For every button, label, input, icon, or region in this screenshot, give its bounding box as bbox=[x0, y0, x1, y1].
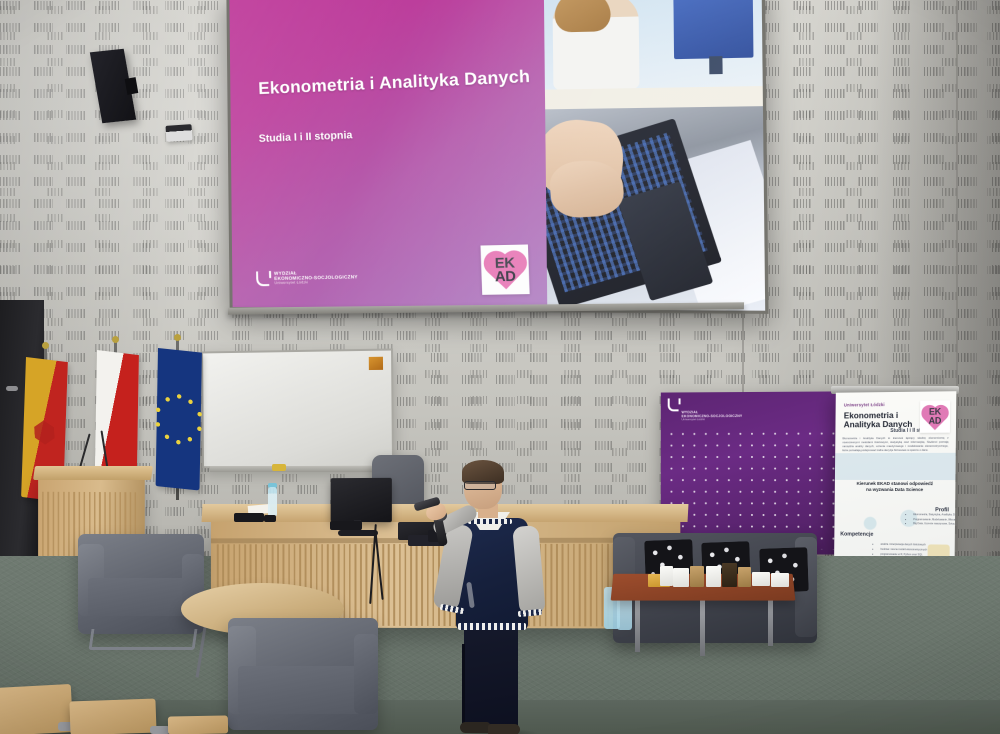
monitor-base bbox=[338, 530, 378, 536]
rollup-badge-text: EK AD bbox=[929, 408, 942, 425]
presenter-shoe bbox=[460, 722, 490, 733]
armchair bbox=[228, 618, 378, 730]
ul-monogram-icon bbox=[668, 398, 679, 411]
catering-box bbox=[673, 568, 689, 587]
faculty-logo: WYDZIAŁ EKONOMICZNO-SOCJOLOGICZNY Uniwer… bbox=[256, 269, 358, 286]
jacket-collar-stripe bbox=[468, 519, 512, 524]
armchair-seat bbox=[88, 578, 194, 616]
auditorium-seat-back[interactable] bbox=[69, 699, 156, 734]
armchair bbox=[78, 534, 204, 634]
list-item: Big Data, Uczenie maszynowe, Sztuczna in… bbox=[913, 522, 956, 527]
ekad-badge-bottom: AD bbox=[495, 269, 516, 283]
auditorium-seat-arm bbox=[150, 726, 170, 734]
presentation-slide: Ekonometria i Analityka Danych Studia I … bbox=[229, 0, 765, 311]
ekad-badge-text: EK AD bbox=[495, 256, 517, 284]
pegboard-logo: WYDZIAŁ EKONOMICZNO-SOCJOLOGICZNY Uniwer… bbox=[668, 398, 743, 422]
photo-upper-scene bbox=[544, 0, 763, 109]
desk-monitor bbox=[331, 478, 392, 522]
presenter-shoe bbox=[488, 724, 520, 734]
whiteboard-marker-icon[interactable] bbox=[272, 464, 286, 471]
catering-box bbox=[690, 566, 704, 587]
presenter bbox=[438, 460, 542, 734]
jacket-hem-stripe bbox=[458, 623, 526, 630]
rollup-ekad-badge: EK AD bbox=[920, 400, 950, 432]
photo-keyboard-scene bbox=[545, 106, 765, 311]
desk-equipment bbox=[234, 513, 264, 522]
purple-pegboard-panel: WYDZIAŁ EKONOMICZNO-SOCJOLOGICZNY Uniwer… bbox=[661, 391, 839, 554]
rollup-claim: Kierunek EKAD stanowi odpowiedź na wyzwa… bbox=[856, 481, 933, 493]
whiteboard-sticker-icon bbox=[369, 357, 383, 370]
faculty-logo-line2: EKONOMICZNO-SOCJOLOGICZNY bbox=[275, 275, 359, 282]
water-bottle-icon bbox=[268, 487, 277, 517]
ul-monogram-icon bbox=[256, 271, 270, 286]
photo-monitor-stand bbox=[709, 56, 722, 74]
faculty-logo-line3: Uniwersytet Łódzki bbox=[275, 280, 359, 286]
whiteboard bbox=[201, 348, 394, 468]
lodz-emblem-icon bbox=[34, 420, 56, 445]
eu-stars-icon bbox=[152, 391, 205, 448]
door-handle-icon[interactable] bbox=[6, 386, 18, 391]
photo-person-hair bbox=[555, 0, 611, 33]
slide-left-panel: Ekonometria i Analityka Danych Studia I … bbox=[229, 0, 547, 309]
auditorium-seat-back[interactable] bbox=[168, 715, 228, 734]
rollup-badge-bottom: AD bbox=[929, 416, 942, 425]
jacket-cuff bbox=[518, 609, 542, 617]
lecture-hall-photo: Ekonometria i Analityka Danych Studia I … bbox=[0, 0, 1000, 734]
slide-photo-panel bbox=[544, 0, 765, 311]
catering-box bbox=[752, 572, 770, 586]
photo-monitor-icon bbox=[673, 0, 753, 60]
rollup-profil-list: Ekonometria, Statystyka, Analityka, Data… bbox=[874, 513, 957, 528]
desk-equipment bbox=[264, 515, 276, 522]
faculty-logo-text: WYDZIAŁ EKONOMICZNO-SOCJOLOGICZNY Uniwer… bbox=[274, 270, 358, 286]
armchair-legs bbox=[89, 629, 198, 650]
slide-title: Ekonometria i Analityka Danych bbox=[257, 67, 530, 100]
lectern-top bbox=[33, 466, 153, 480]
ekad-badge: EK AD bbox=[481, 244, 530, 294]
armchair-arm bbox=[354, 634, 378, 714]
rollup-header-band bbox=[835, 453, 956, 480]
faculty-logo-line1: WYDZIAŁ bbox=[274, 270, 358, 277]
catering-box bbox=[660, 566, 673, 586]
heart-icon bbox=[488, 254, 524, 289]
eu-flag bbox=[156, 348, 202, 491]
table-leg bbox=[700, 600, 705, 656]
presenter-leg-split bbox=[462, 644, 465, 726]
wall-seam bbox=[956, 0, 958, 560]
pegboard-logo-text: WYDZIAŁ EKONOMICZNO-SOCJOLOGICZNY Uniwer… bbox=[682, 411, 743, 422]
table-leg bbox=[635, 596, 640, 652]
projection-screen: Ekonometria i Analityka Danych Studia I … bbox=[226, 0, 768, 314]
pegboard-logo-line3: Uniwersytet Łódzki bbox=[682, 418, 743, 421]
catering-box bbox=[738, 567, 751, 587]
rollup-section-kompetencje: Kompetencje bbox=[840, 532, 873, 538]
slide-subtitle: Studia I i II stopnia bbox=[258, 129, 352, 145]
catering-box bbox=[706, 566, 721, 587]
ekad-badge-top: EK bbox=[495, 256, 515, 270]
desk-equipment bbox=[330, 521, 362, 530]
whiteboard-marker-tray bbox=[210, 466, 386, 472]
catering-box bbox=[722, 563, 737, 587]
presenter-trousers bbox=[464, 624, 518, 728]
ceiling-camera-icon bbox=[165, 124, 192, 142]
armchair-seat bbox=[238, 666, 368, 714]
rollup-intro-text: Ekonometria i Analityka Danych to kierun… bbox=[842, 437, 948, 454]
glasses-icon bbox=[464, 481, 496, 490]
pegboard-dot-grid bbox=[666, 427, 835, 549]
rollup-university: Uniwersytet Łódzki bbox=[844, 402, 885, 407]
catering-box bbox=[771, 573, 789, 587]
